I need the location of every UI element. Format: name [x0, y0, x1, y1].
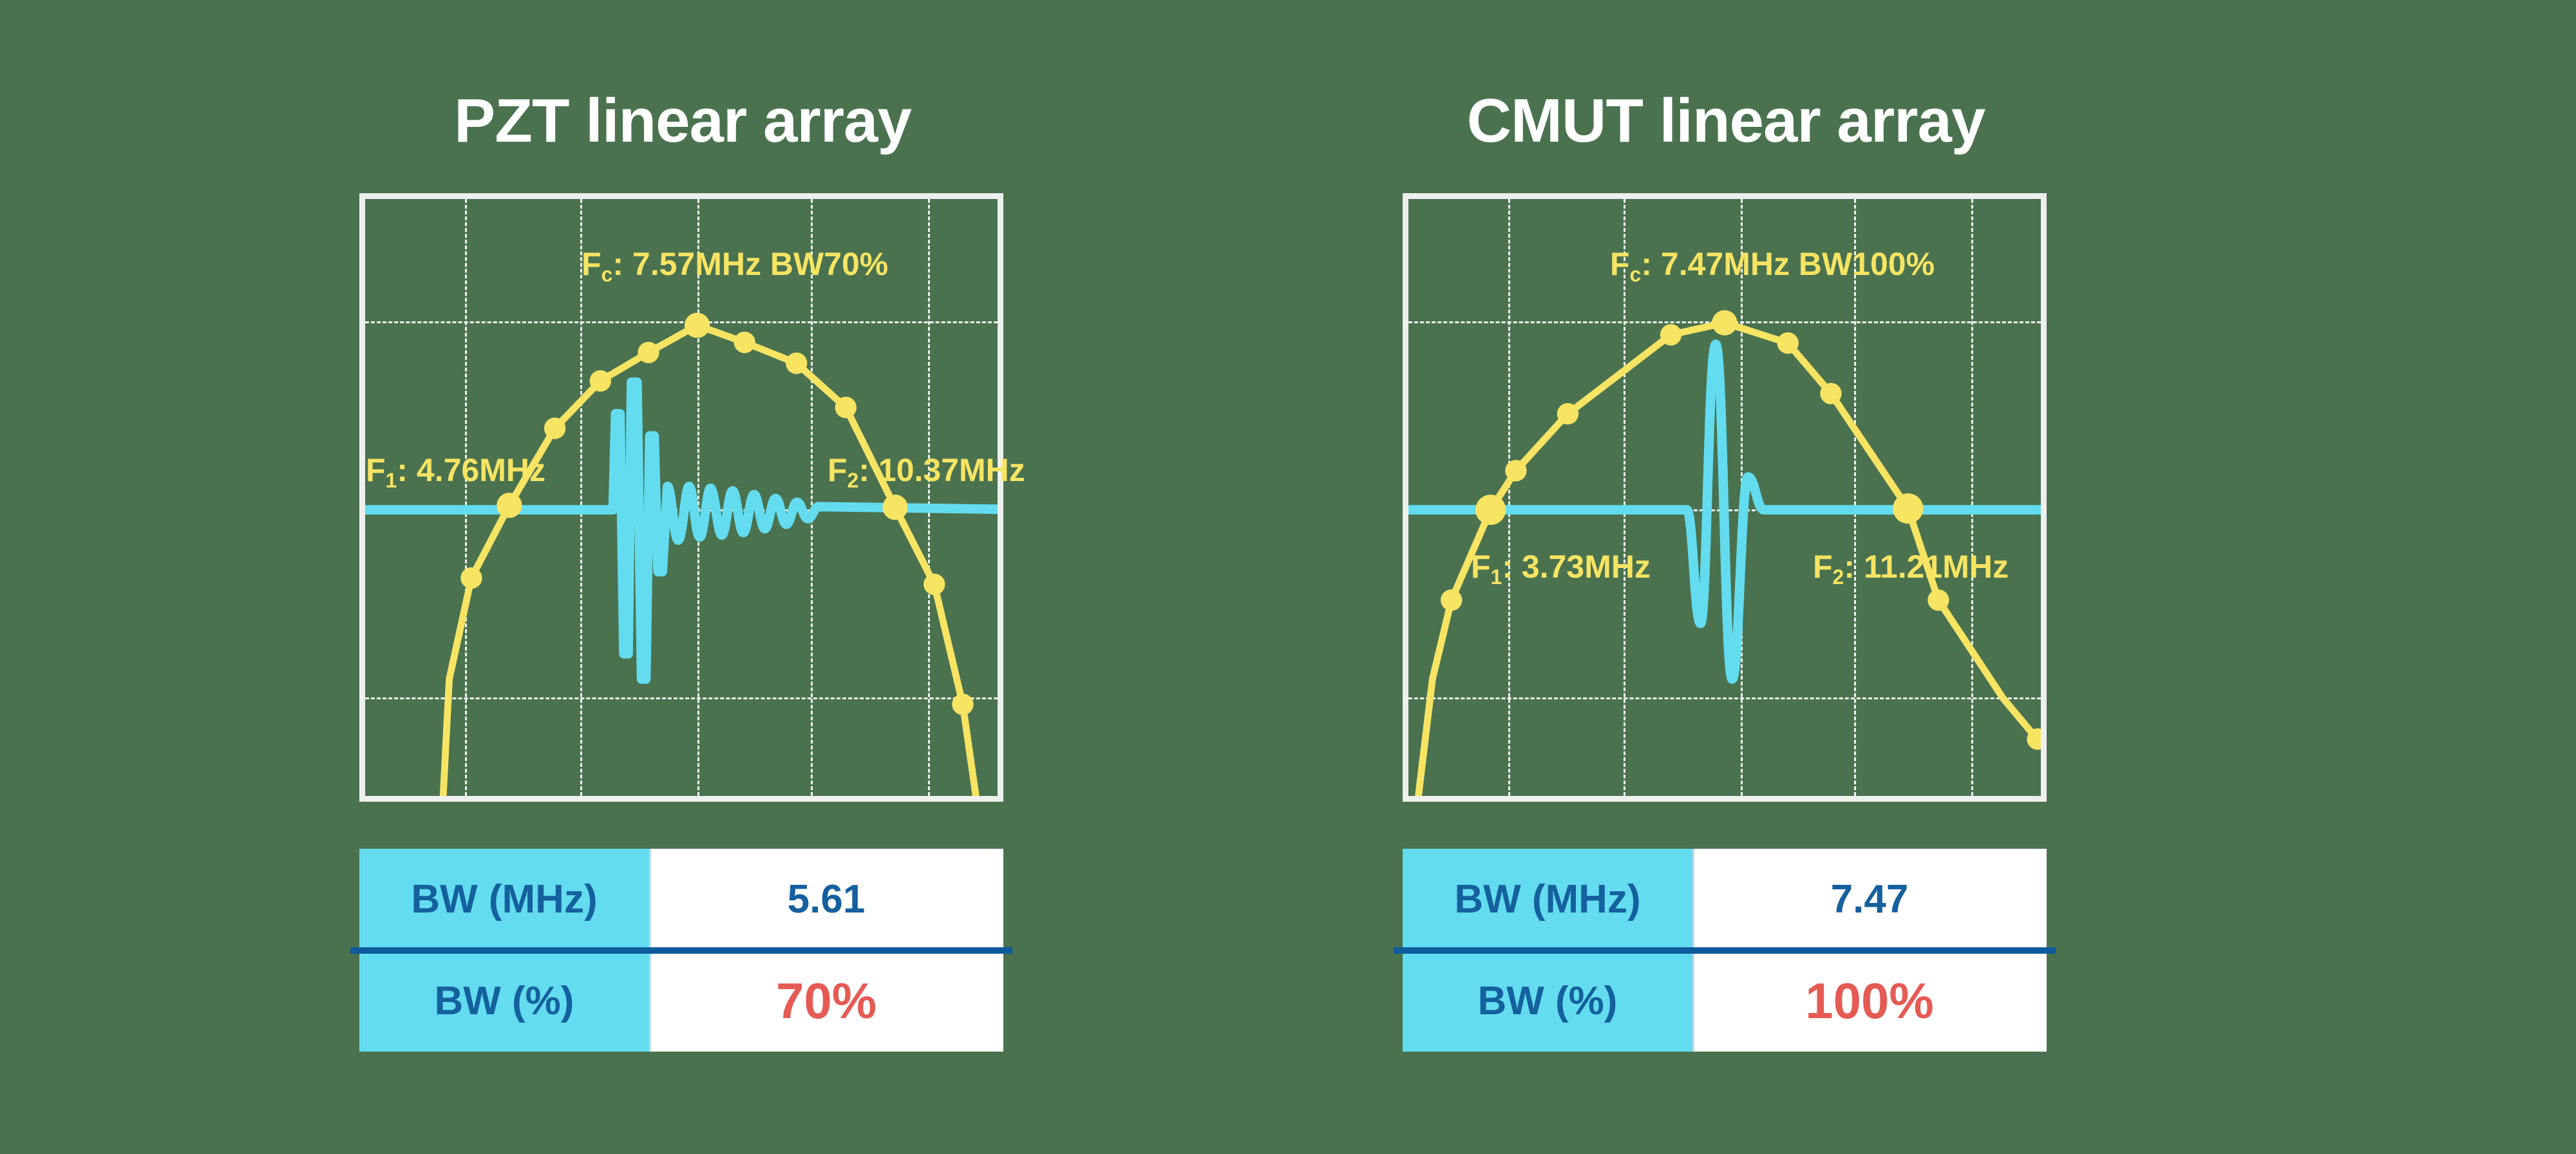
- table-cell-label: BW (MHz): [1403, 849, 1692, 951]
- table-row-divider: [1394, 947, 2056, 954]
- table-row: BW (%) 100%: [1403, 951, 2047, 1052]
- f2-subscript: 2: [1833, 565, 1844, 589]
- panel-title-pzt: PZT linear array: [180, 90, 1185, 152]
- f2-prefix: F: [828, 452, 848, 488]
- fc-text: : 7.57MHz BW70%: [612, 246, 888, 282]
- annotation-f1-cmut: F1: 3.73MHz: [1471, 551, 1651, 587]
- fc-prefix: F: [582, 246, 601, 282]
- f2-text: : 11.21MHz: [1844, 549, 2009, 585]
- plot-area-pzt: [365, 199, 998, 796]
- f2-subscript: 2: [848, 469, 859, 492]
- annotation-f2-cmut: F2: 11.21MHz: [1813, 551, 2009, 587]
- annotation-center-frequency-pzt: Fc: 7.57MHz BW70%: [582, 248, 888, 285]
- f2-prefix: F: [1813, 549, 1833, 585]
- comparison-figure: PZT linear array: [0, 0, 2576, 1154]
- fc-subscript: c: [1630, 263, 1642, 286]
- fc-text: : 7.47MHz BW100%: [1641, 246, 1935, 282]
- plot-curves-pzt: [365, 199, 998, 796]
- panel-title-cmut: CMUT linear array: [1224, 90, 2228, 152]
- table-cell-label: BW (%): [1403, 951, 1692, 1052]
- table-cell-label: BW (%): [359, 951, 649, 1052]
- panel-pzt: PZT linear array: [180, 0, 1327, 1154]
- panel-cmut: CMUT linear array: [1224, 0, 2370, 1154]
- plot-curves-cmut: [1408, 199, 2041, 796]
- fc-prefix: F: [1610, 246, 1630, 282]
- f1-subscript: 1: [386, 469, 397, 492]
- fc-subscript: c: [601, 263, 613, 286]
- annotation-f1-pzt: F1: 4.76MHz: [366, 454, 545, 491]
- table-row-divider: [350, 947, 1012, 954]
- table-cell-label: BW (MHz): [359, 849, 649, 951]
- bw-table-cmut: BW (MHz) 7.47 BW (%) 100%: [1403, 849, 2047, 1052]
- table-row: BW (MHz) 7.47: [1403, 849, 2047, 951]
- f1-subscript: 1: [1491, 565, 1502, 589]
- f2-text: : 10.37MHz: [858, 452, 1025, 488]
- table-cell-value-highlight: 100%: [1692, 951, 2047, 1052]
- annotation-center-frequency-cmut: Fc: 7.47MHz BW100%: [1610, 248, 1935, 285]
- plot-area-cmut: [1408, 199, 2041, 796]
- table-row: BW (MHz) 5.61: [359, 849, 1003, 951]
- table-cell-value: 7.47: [1692, 849, 2047, 951]
- annotation-f2-pzt: F2: 10.37MHz: [828, 454, 1025, 491]
- bandwidth-curve-pzt: [441, 313, 982, 802]
- f1-text: : 3.73MHz: [1502, 549, 1651, 585]
- f1-text: : 4.76MHz: [397, 452, 545, 488]
- table-cell-value: 5.61: [649, 849, 1003, 951]
- f1-prefix: F: [1471, 549, 1491, 585]
- table-row: BW (%) 70%: [359, 951, 1003, 1052]
- f1-prefix: F: [366, 452, 386, 488]
- bw-table-pzt: BW (MHz) 5.61 BW (%) 70%: [359, 849, 1003, 1052]
- table-cell-value-highlight: 70%: [649, 951, 1003, 1052]
